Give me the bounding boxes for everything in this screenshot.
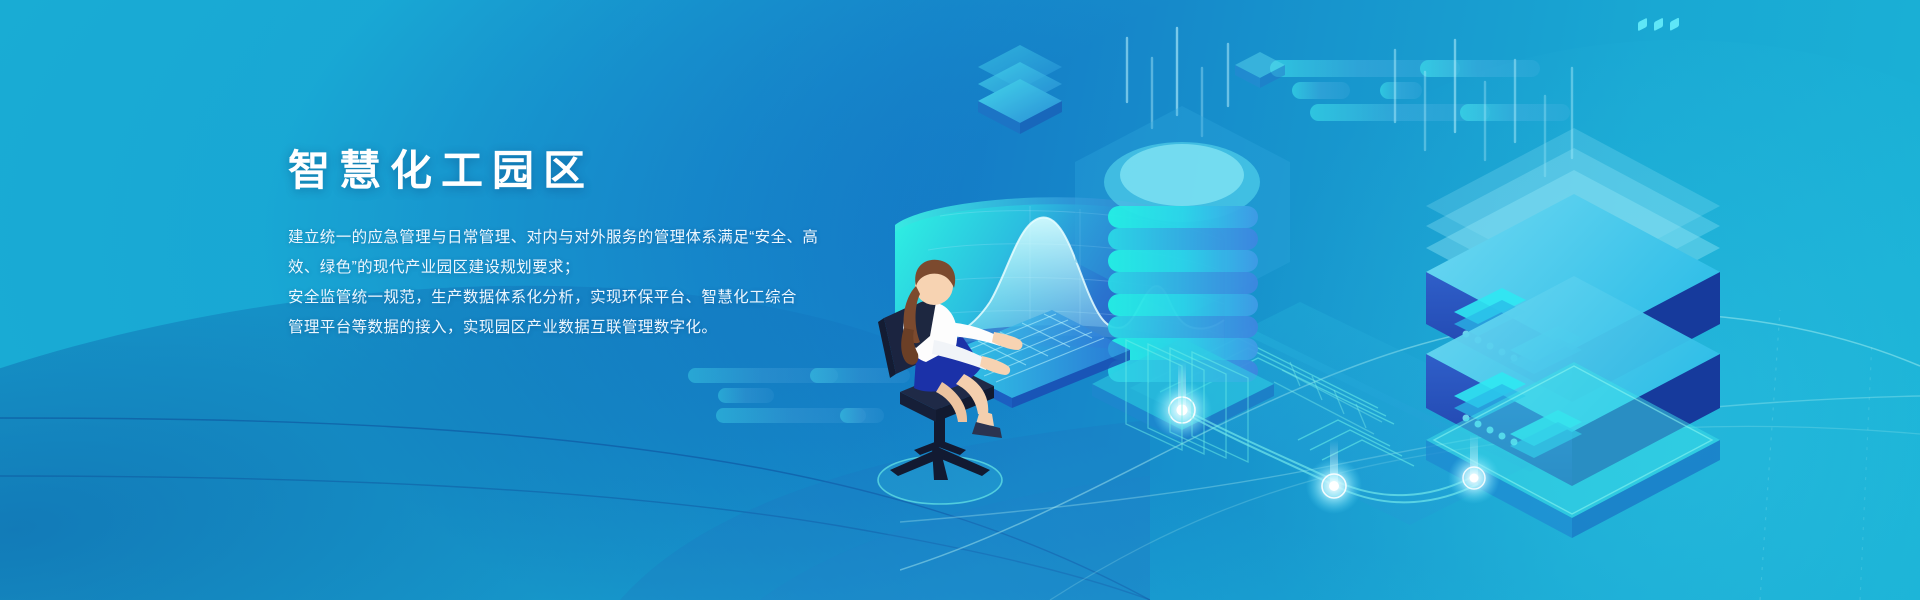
hero-copy: 智慧化工园区 建立统一的应急管理与日常管理、对内与对外服务的管理体系满足“安全、… <box>288 146 888 343</box>
page-description: 建立统一的应急管理与日常管理、对内与对外服务的管理体系满足“安全、高 效、绿色”… <box>288 223 888 343</box>
rack-indicator-panel-lower <box>1636 10 1688 31</box>
description-line: 建立统一的应急管理与日常管理、对内与对外服务的管理体系满足“安全、高 <box>288 223 888 253</box>
description-line: 效、绿色”的现代产业园区建设规划要求； <box>288 253 888 283</box>
floating-cube-small-icon <box>1235 52 1285 88</box>
description-line: 安全监管统一规范，生产数据体系化分析，实现环保平台、智慧化工综合 <box>288 283 888 313</box>
illustration-smart-park <box>830 10 1920 600</box>
description-line: 管理平台等数据的接入，实现园区产业数据互联管理数字化。 <box>288 313 888 343</box>
hero-banner: 智慧化工园区 建立统一的应急管理与日常管理、对内与对外服务的管理体系满足“安全、… <box>0 0 1920 600</box>
page-title: 智慧化工园区 <box>288 146 888 196</box>
floating-cube-icon <box>978 45 1062 134</box>
